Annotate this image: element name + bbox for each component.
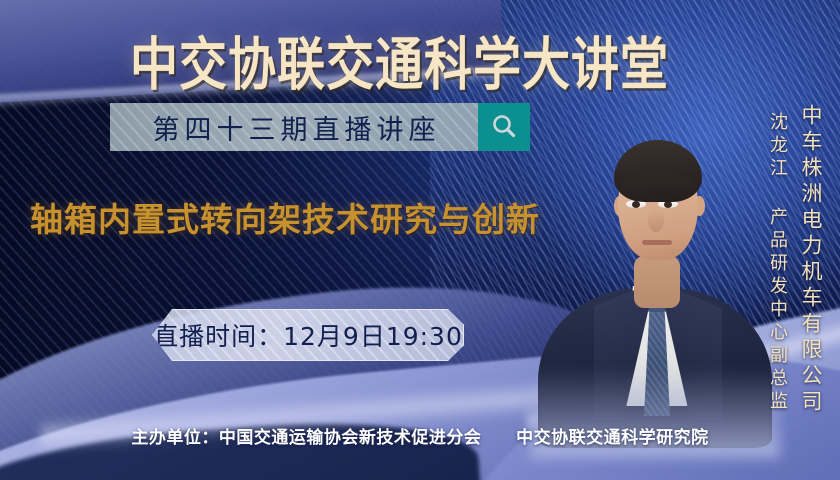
- portrait-nose: [648, 210, 664, 232]
- subtitle-text-box: 第四十三期直播讲座: [110, 103, 478, 151]
- search-icon: [489, 112, 519, 142]
- subtitle-bar: 第四十三期直播讲座: [110, 103, 530, 151]
- footer-organizer-primary: 主办单位：中国交通运输协会新技术促进分会: [131, 428, 481, 448]
- portrait-neck: [634, 256, 680, 308]
- speaker-portrait: [560, 118, 750, 418]
- page-title: 中交协联交通科学大讲堂: [130, 18, 669, 101]
- footer-organizers: 主办单位：中国交通运输协会新技术促进分会 中交协联交通科学研究院: [0, 423, 840, 448]
- portrait-mouth: [642, 240, 672, 245]
- live-time-badge: 直播时间：12月9日19:30: [152, 309, 464, 361]
- search-button[interactable]: [478, 103, 530, 151]
- topic-title: 轴箱内置式转向架技术研究与创新: [30, 193, 540, 241]
- live-time-label: 直播时间：12月9日19:30: [153, 317, 463, 353]
- footer-organizer-secondary: 中交协联交通科学研究院: [516, 428, 709, 448]
- live-stream-poster: 中交协联交通科学大讲堂 第四十三期直播讲座 轴箱内置式转向架技术研究与创新 直播…: [0, 0, 840, 480]
- speaker-name-title: 沈龙江 产品研发中心副总监: [764, 112, 790, 414]
- speaker-company: 中车株洲电力机车有限公司: [796, 104, 826, 416]
- portrait-hair: [614, 140, 702, 202]
- subtitle-label: 第四十三期直播讲座: [148, 108, 441, 147]
